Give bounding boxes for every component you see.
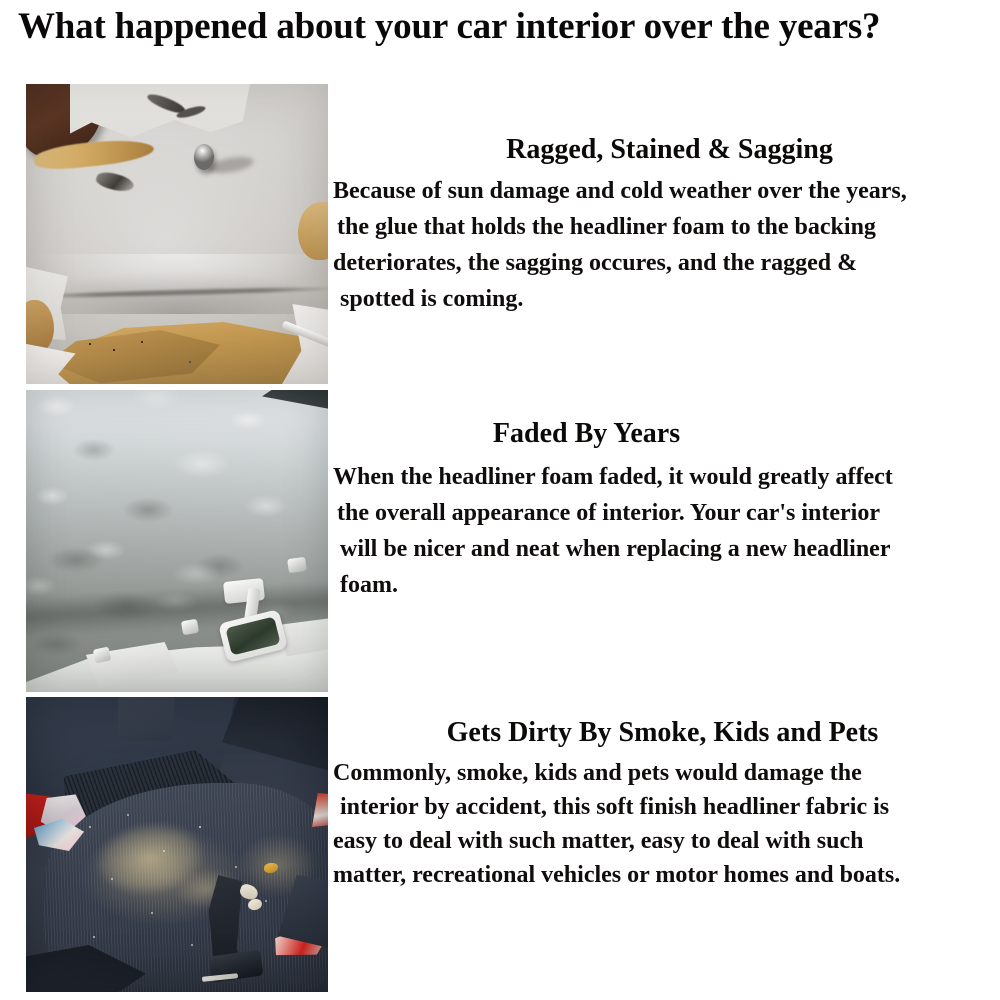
section-gets-dirty: Gets Dirty By Smoke, Kids and Pets Commo… (333, 715, 1000, 892)
photo-dirty-seat (26, 697, 328, 992)
photo-vignette (26, 697, 328, 992)
body-line: deteriorates, the sagging occures, and t… (333, 245, 1000, 281)
section-faded-by-years: Faded By Years When the headliner foam f… (333, 416, 1000, 603)
photo-ragged-sagging-headliner (26, 84, 328, 384)
body-line: matter, recreational vehicles or motor h… (333, 858, 1000, 892)
photo-faded-headliner (26, 390, 328, 692)
body-line: will be nicer and neat when replacing a … (333, 531, 1000, 567)
section-ragged-stained-sagging: Ragged, Stained & Sagging Because of sun… (333, 132, 1000, 317)
body-line: the overall appearance of interior. Your… (333, 495, 1000, 531)
body-line: Because of sun damage and cold weather o… (333, 173, 1000, 209)
section-body-3: Commonly, smoke, kids and pets would dam… (333, 756, 1000, 892)
section-body-2: When the headliner foam faded, it would … (333, 459, 1000, 603)
body-line: When the headliner foam faded, it would … (333, 459, 1000, 495)
page-title: What happened about your car interior ov… (18, 4, 990, 50)
photo-vignette (26, 84, 328, 384)
body-line: Commonly, smoke, kids and pets would dam… (333, 756, 1000, 790)
body-line: spotted is coming. (333, 281, 1000, 317)
photo-vignette (26, 390, 328, 692)
body-line: easy to deal with such matter, easy to d… (333, 824, 1000, 858)
section-heading-3: Gets Dirty By Smoke, Kids and Pets (333, 715, 1000, 751)
section-body-1: Because of sun damage and cold weather o… (333, 173, 1000, 317)
section-heading-1: Ragged, Stained & Sagging (333, 132, 1000, 168)
body-line: foam. (333, 567, 1000, 603)
body-line: the glue that holds the headliner foam t… (333, 209, 1000, 245)
body-line: interior by accident, this soft finish h… (333, 790, 1000, 824)
section-heading-2: Faded By Years (333, 416, 1000, 452)
